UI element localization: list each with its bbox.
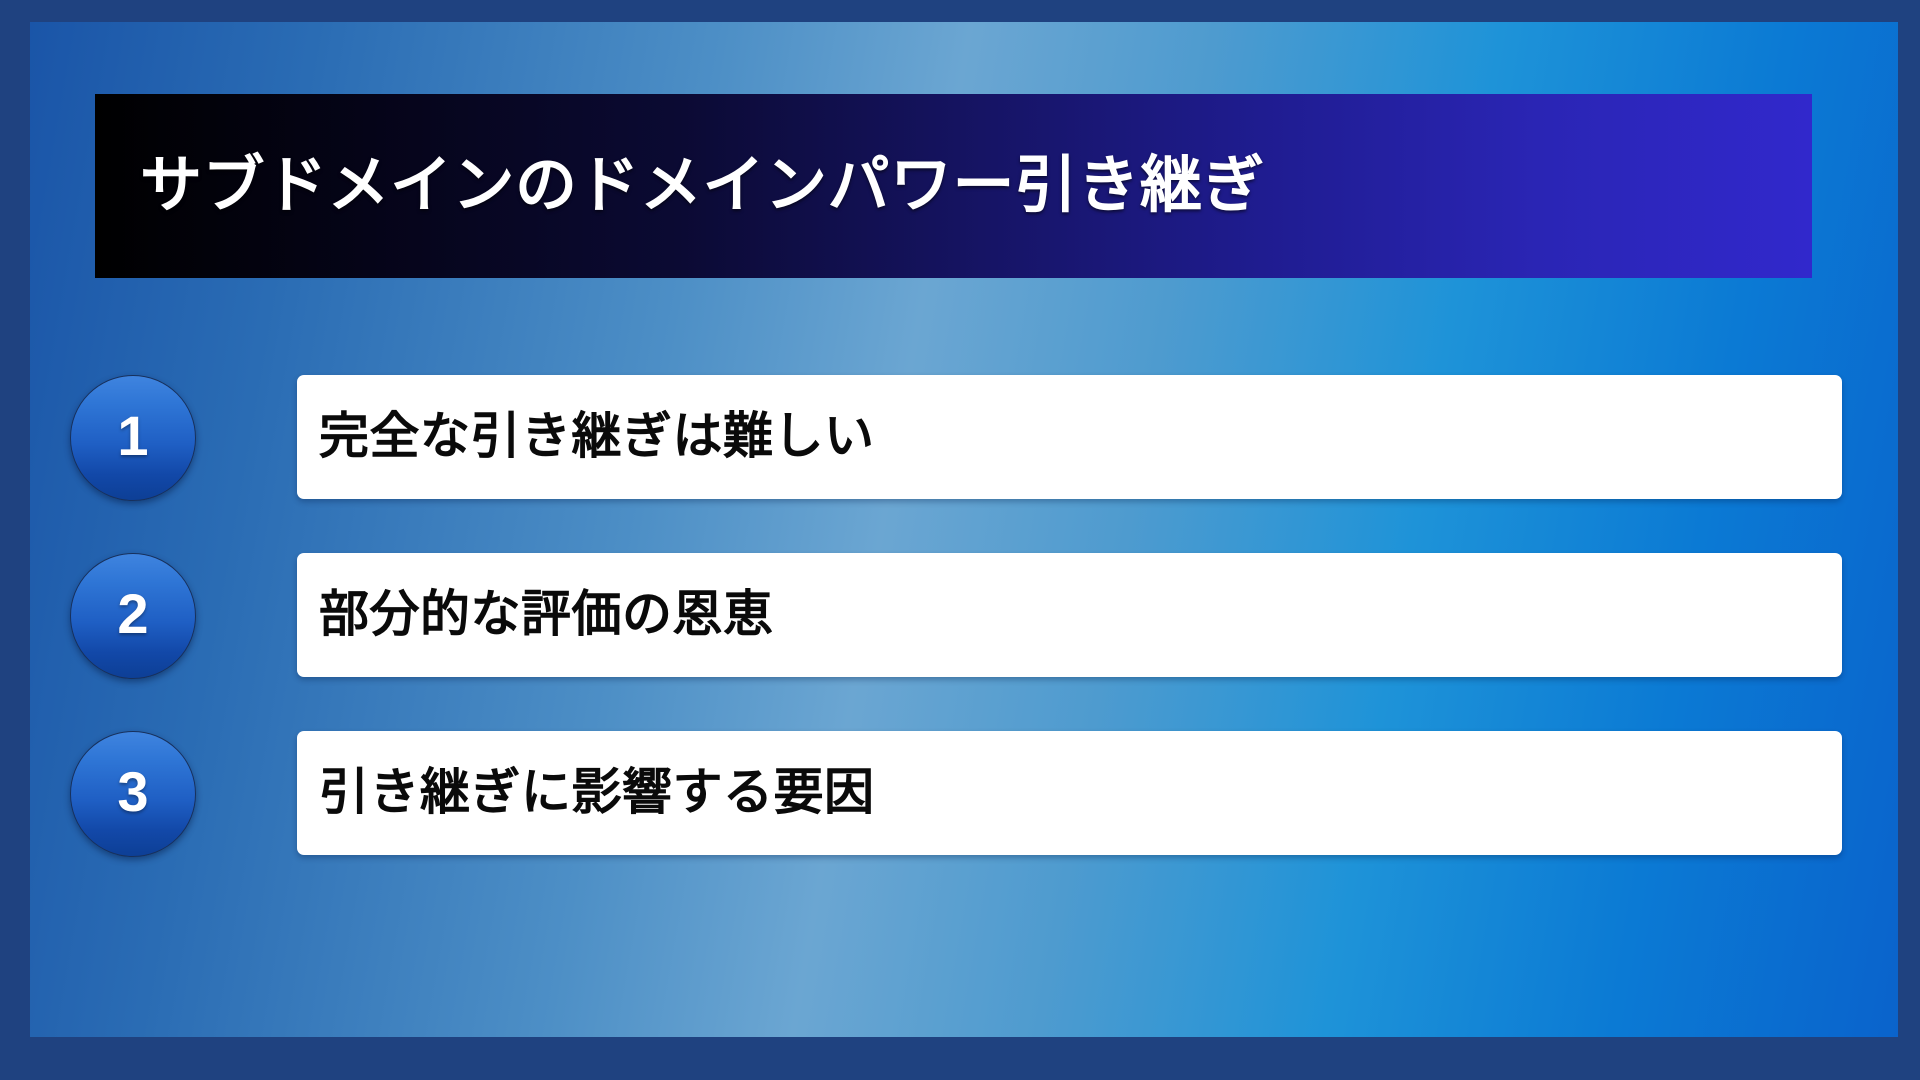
list-item-card[interactable]: 引き継ぎに影響する要因 — [297, 731, 1842, 855]
title-band: サブドメインのドメインパワー引き継ぎ — [95, 94, 1812, 278]
list-item[interactable]: 1 完全な引き継ぎは難しい — [30, 375, 1898, 498]
list-item[interactable]: 2 部分的な評価の恩恵 — [30, 553, 1898, 676]
list-item-number-badge: 3 — [70, 731, 196, 857]
list-item-card[interactable]: 部分的な評価の恩恵 — [297, 553, 1842, 677]
list-item-card[interactable]: 完全な引き継ぎは難しい — [297, 375, 1842, 499]
list-item-number: 2 — [117, 586, 148, 642]
list-item-number: 3 — [117, 764, 148, 820]
slide-panel: サブドメインのドメインパワー引き継ぎ 1 完全な引き継ぎは難しい 2 部分的な評… — [30, 22, 1898, 1037]
list-item-number-badge: 1 — [70, 375, 196, 501]
list-item-label: 部分的な評価の恩恵 — [297, 586, 774, 644]
page-title: サブドメインのドメインパワー引き継ぎ — [95, 152, 1265, 220]
list-item-number: 1 — [117, 408, 148, 464]
list-item[interactable]: 3 引き継ぎに影響する要因 — [30, 731, 1898, 854]
numbered-list: 1 完全な引き継ぎは難しい 2 部分的な評価の恩恵 3 引き — [30, 375, 1898, 909]
list-item-number-badge: 2 — [70, 553, 196, 679]
list-item-label: 完全な引き継ぎは難しい — [297, 408, 875, 466]
slide-root: サブドメインのドメインパワー引き継ぎ 1 完全な引き継ぎは難しい 2 部分的な評… — [0, 0, 1920, 1080]
list-item-label: 引き継ぎに影響する要因 — [297, 764, 875, 822]
